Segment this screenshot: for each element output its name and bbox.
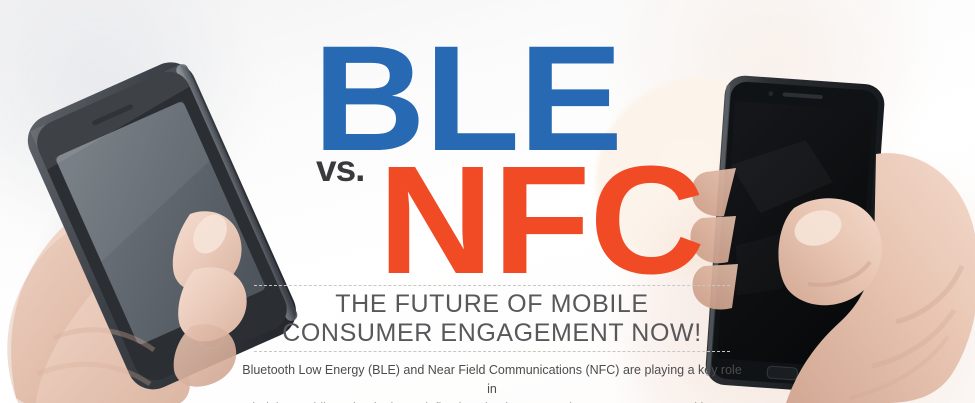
tagline: THE FUTURE OF MOBILE CONSUMER ENGAGEMENT… bbox=[254, 290, 730, 348]
left-hand-holding-smartphone-image bbox=[0, 38, 314, 403]
body-copy-line-2: helping mobile technologies redefine how… bbox=[238, 399, 746, 403]
tagline-line-1: THE FUTURE OF MOBILE bbox=[254, 290, 730, 319]
divider-bottom bbox=[254, 351, 730, 352]
tagline-line-2: CONSUMER ENGAGEMENT NOW! bbox=[254, 319, 730, 348]
body-copy-line-1: Bluetooth Low Energy (BLE) and Near Fiel… bbox=[238, 361, 746, 399]
ble-vs-nfc-banner: BLE vs. NFC THE FUTURE OF MOBILE CONSUME… bbox=[0, 0, 975, 403]
right-hand-holding-smartphone-image bbox=[690, 22, 975, 403]
divider-top bbox=[254, 285, 730, 286]
body-copy: Bluetooth Low Energy (BLE) and Near Fiel… bbox=[238, 361, 746, 403]
